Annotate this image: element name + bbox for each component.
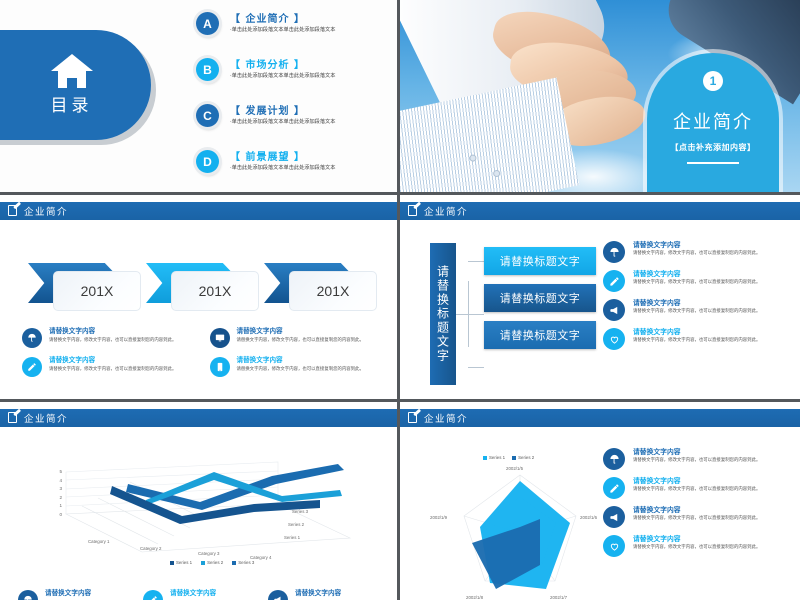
slide-line-chart[interactable]: 企业简介 bbox=[0, 402, 397, 600]
bullet-list: 请替换文字内容 请替换文字内容，修改文字内容，也可以直接复制您的内容到此。 请替… bbox=[603, 241, 791, 357]
chart-canvas: 012 345 Category 1 Category 2 Category 3… bbox=[50, 442, 370, 562]
legend-item: Series 1 bbox=[170, 560, 192, 565]
svg-text:2002/1/6: 2002/1/6 bbox=[580, 515, 598, 520]
svg-text:2002/1/8: 2002/1/8 bbox=[466, 595, 484, 600]
list-item[interactable]: 请替换文字内容 请替换文字内容，修改文字内容，也可以直接复制您的内容到此。 bbox=[603, 299, 791, 321]
list-item-sub: 请替换文字内容，修改文字内容，也可以直接复制您的内容到此。 bbox=[633, 545, 760, 551]
list-item[interactable]: 请替换文字内容 请替换文字内容，修改文字内容，也可以直接复制您的内容到此。 bbox=[603, 328, 791, 350]
list-item[interactable]: 请替换文字内容 请替换文字内容，修改文字内容，也可以直接复制您的内容到此。 bbox=[210, 327, 384, 348]
slide-header-title: 企业简介 bbox=[424, 411, 468, 425]
umbrella-icon bbox=[18, 590, 38, 600]
edit-document-icon bbox=[408, 412, 419, 424]
list-item-title: 请替换文字内容 bbox=[633, 299, 760, 307]
timeline-step[interactable]: 201X bbox=[28, 263, 146, 311]
list-item[interactable]: 请替换文字内容 bbox=[18, 589, 133, 600]
toc-item-sub: ·单击此处添加段落文本单击此处添加段落文本 bbox=[230, 73, 335, 80]
legend-item: Series 2 bbox=[201, 560, 223, 565]
svg-text:0: 0 bbox=[59, 512, 62, 517]
list-item[interactable]: 请替换文字内容 bbox=[143, 589, 258, 600]
heart-icon bbox=[603, 328, 625, 350]
slide-section-cover[interactable]: 1 企业简介 【点击补充添加内容】 bbox=[400, 0, 800, 192]
umbrella-icon bbox=[603, 448, 625, 470]
list-item-sub: 请替换文字内容，修改文字内容，也可以直接复制您的内容到此。 bbox=[633, 280, 760, 286]
toc-item-sub: ·单击此处添加段落文本单击此处添加段落文本 bbox=[230, 165, 335, 172]
pencil-icon bbox=[22, 357, 42, 377]
toc-item-sub: ·单击此处添加段落文本单击此处添加段落文本 bbox=[230, 27, 335, 34]
list-item-title: 请替换文字内容 bbox=[633, 270, 760, 278]
svg-text:1: 1 bbox=[59, 503, 62, 508]
list-item-sub: 请替换文字内容，修改文字内容，也可以直接复制您的内容到此。 bbox=[49, 338, 176, 344]
toc-badge-a: A bbox=[196, 12, 219, 35]
list-item-sub: 请替换文字内容，修改文字内容，也可以直接复制您的内容到此。 bbox=[633, 338, 760, 344]
list-item-title: 请替换文字内容 bbox=[295, 589, 341, 598]
timeline-year: 201X bbox=[171, 271, 259, 311]
timeline-detail-list: 请替换文字内容 请替换文字内容，修改文字内容，也可以直接复制您的内容到此。 请替… bbox=[22, 327, 383, 377]
slide-table-of-contents[interactable]: 目录 A 【 企业简介 】 ·单击此处添加段落文本单击此处添加段落文本 B 【 … bbox=[0, 0, 397, 192]
timeline-year: 201X bbox=[289, 271, 377, 311]
legend-item: Series 1 bbox=[483, 455, 505, 460]
tree-button-list: 请替换标题文字 请替换标题文字 请替换标题文字 bbox=[484, 247, 596, 358]
chart-caption-list: 请替换文字内容 请替换文字内容 请替换文字内容 bbox=[18, 589, 383, 600]
svg-text:Series 2: Series 2 bbox=[288, 522, 305, 527]
toc-item-sub: ·单击此处添加段落文本单击此处添加段落文本 bbox=[230, 119, 335, 126]
list-item[interactable]: 请替换文字内容 请替换文字内容，修改文字内容，也可以直接复制您的内容到此。 bbox=[603, 241, 791, 263]
chart-canvas: 2002/1/5 2002/1/6 2002/1/7 2002/1/8 2002… bbox=[428, 457, 613, 600]
svg-text:4: 4 bbox=[59, 478, 62, 483]
slide-header-title: 企业简介 bbox=[24, 204, 68, 218]
list-item-sub: 请替换文字内容，修改文字内容，也可以直接复制您的内容到此。 bbox=[237, 367, 364, 373]
list-item[interactable]: 请替换文字内容 请替换文字内容，修改文字内容，也可以直接复制您的内容到此。 bbox=[22, 327, 196, 348]
svg-text:2002/1/9: 2002/1/9 bbox=[430, 515, 448, 520]
list-item-title: 请替换文字内容 bbox=[633, 328, 760, 336]
toc-item-c[interactable]: C 【 发展计划 】 ·单击此处添加段落文本单击此处添加段落文本 bbox=[196, 102, 391, 136]
timeline-chevrons: 201X 201X 201X bbox=[28, 263, 382, 311]
edit-document-icon bbox=[408, 205, 419, 217]
section-subtitle: 【点击补充添加内容】 bbox=[671, 142, 756, 153]
list-item-sub: 请替换文字内容，修改文字内容，也可以直接复制您的内容到此。 bbox=[49, 367, 176, 373]
umbrella-icon bbox=[603, 241, 625, 263]
tree-button[interactable]: 请替换标题文字 bbox=[484, 247, 596, 275]
slide-header-title: 企业简介 bbox=[424, 204, 468, 218]
list-item-title: 请替换文字内容 bbox=[237, 356, 364, 365]
list-item-title: 请替换文字内容 bbox=[633, 477, 760, 485]
list-item[interactable]: 请替换文字内容 请替换文字内容，修改文字内容，也可以直接复制您的内容到此。 bbox=[603, 477, 791, 499]
pencil-icon bbox=[603, 477, 625, 499]
list-item-title: 请替换文字内容 bbox=[633, 506, 760, 514]
legend-item: Series 3 bbox=[232, 560, 254, 565]
toc-item-title: 【 企业简介 】 bbox=[230, 10, 335, 25]
toc-title-pill: 目录 bbox=[0, 30, 151, 140]
svg-text:Category 1: Category 1 bbox=[88, 539, 110, 544]
timeline-step[interactable]: 201X bbox=[264, 263, 382, 311]
heart-icon bbox=[603, 535, 625, 557]
tree-button[interactable]: 请替换标题文字 bbox=[484, 284, 596, 312]
svg-text:Category 2: Category 2 bbox=[140, 546, 162, 551]
bullet-list: 请替换文字内容 请替换文字内容，修改文字内容，也可以直接复制您的内容到此。 请替… bbox=[603, 448, 791, 564]
chart-legend: Series 1 Series 2 bbox=[483, 455, 534, 460]
slide-header-bar: 企业简介 bbox=[400, 409, 800, 427]
list-item-sub: 请替换文字内容，修改文字内容，也可以直接复制您的内容到此。 bbox=[633, 309, 760, 315]
toc-item-title: 【 发展计划 】 bbox=[230, 102, 335, 117]
list-item[interactable]: 请替换文字内容 请替换文字内容，修改文字内容，也可以直接复制您的内容到此。 bbox=[22, 356, 196, 377]
pencil-icon bbox=[603, 270, 625, 292]
svg-text:2: 2 bbox=[59, 495, 62, 500]
chart-legend: Series 1 Series 2 Series 3 bbox=[170, 560, 254, 565]
list-item[interactable]: 请替换文字内容 请替换文字内容，修改文字内容，也可以直接复制您的内容到此。 bbox=[210, 356, 384, 377]
vertical-title-label: 请替换标题文字 bbox=[435, 265, 452, 363]
timeline-step[interactable]: 201X bbox=[146, 263, 264, 311]
chart-3d-line: 012 345 Category 1 Category 2 Category 3… bbox=[50, 442, 370, 562]
tree-connector bbox=[456, 243, 484, 385]
toc-item-title: 【 前景展望 】 bbox=[230, 148, 335, 163]
toc-pill-label: 目录 bbox=[51, 91, 93, 116]
chart-radar: Series 1 Series 2 2002/1/5 2002/1/6 2002… bbox=[428, 457, 613, 600]
home-icon bbox=[51, 54, 93, 88]
list-item-title: 请替换文字内容 bbox=[633, 535, 760, 543]
svg-text:2002/1/5: 2002/1/5 bbox=[506, 466, 524, 471]
slide-header-title: 企业简介 bbox=[24, 411, 68, 425]
slide-structure-tree[interactable]: 企业简介 请替换标题文字 请替换标题文字 请替换标题文字 请替换标题文字 请替换… bbox=[400, 195, 800, 399]
slide-header-bar: 企业简介 bbox=[0, 409, 397, 427]
list-item-title: 请替换文字内容 bbox=[49, 356, 176, 365]
slide-timeline[interactable]: 企业简介 201X 201X 201X 请替换文字内容 bbox=[0, 195, 397, 399]
svg-text:Series 1: Series 1 bbox=[284, 535, 301, 540]
toc-item-b[interactable]: B 【 市场分析 】 ·单击此处添加段落文本单击此处添加段落文本 bbox=[196, 56, 391, 90]
slide-header-bar: 企业简介 bbox=[0, 202, 397, 220]
list-item-title: 请替换文字内容 bbox=[49, 327, 176, 336]
svg-text:Series 3: Series 3 bbox=[292, 509, 309, 514]
megaphone-icon bbox=[603, 506, 625, 528]
list-item-title: 请替换文字内容 bbox=[633, 448, 760, 456]
legend-item: Series 2 bbox=[512, 455, 534, 460]
list-item-sub: 请替换文字内容，修改文字内容，也可以直接复制您的内容到此。 bbox=[633, 458, 760, 464]
toc-item-a[interactable]: A 【 企业简介 】 ·单击此处添加段落文本单击此处添加段落文本 bbox=[196, 10, 391, 44]
list-item[interactable]: 请替换文字内容 bbox=[268, 589, 383, 600]
list-item-sub: 请替换文字内容，修改文字内容，也可以直接复制您的内容到此。 bbox=[633, 487, 760, 493]
toc-item-list: A 【 企业简介 】 ·单击此处添加段落文本单击此处添加段落文本 B 【 市场分… bbox=[196, 10, 391, 192]
monitor-icon bbox=[210, 328, 230, 348]
section-number: 1 bbox=[703, 71, 723, 91]
list-item-sub: 请替换文字内容，修改文字内容，也可以直接复制您的内容到此。 bbox=[237, 338, 364, 344]
list-item[interactable]: 请替换文字内容 请替换文字内容，修改文字内容，也可以直接复制您的内容到此。 bbox=[603, 270, 791, 292]
slide-thumbnail-grid: 目录 A 【 企业简介 】 ·单击此处添加段落文本单击此处添加段落文本 B 【 … bbox=[0, 0, 800, 600]
timeline-year: 201X bbox=[53, 271, 141, 311]
list-item-sub: 请替换文字内容，修改文字内容，也可以直接复制您的内容到此。 bbox=[633, 251, 760, 257]
list-item[interactable]: 请替换文字内容 请替换文字内容，修改文字内容，也可以直接复制您的内容到此。 bbox=[603, 448, 791, 470]
toc-item-title: 【 市场分析 】 bbox=[230, 56, 335, 71]
megaphone-icon bbox=[603, 299, 625, 321]
toc-badge-d: D bbox=[196, 150, 219, 173]
toc-badge-b: B bbox=[196, 58, 219, 81]
edit-document-icon bbox=[8, 205, 19, 217]
edit-document-icon bbox=[8, 412, 19, 424]
svg-text:2002/1/7: 2002/1/7 bbox=[550, 595, 568, 600]
section-title: 企业简介 bbox=[673, 108, 753, 134]
svg-text:3: 3 bbox=[59, 486, 62, 491]
list-item-title: 请替换文字内容 bbox=[45, 589, 91, 598]
list-item[interactable]: 请替换文字内容 请替换文字内容，修改文字内容，也可以直接复制您的内容到此。 bbox=[603, 535, 791, 557]
toc-badge-c: C bbox=[196, 104, 219, 127]
tree-button[interactable]: 请替换标题文字 bbox=[484, 321, 596, 349]
list-item-title: 请替换文字内容 bbox=[237, 327, 364, 336]
vertical-title-bar: 请替换标题文字 bbox=[430, 243, 456, 385]
list-item-title: 请替换文字内容 bbox=[170, 589, 216, 598]
toc-item-d[interactable]: D 【 前景展望 】 ·单击此处添加段落文本单击此处添加段落文本 bbox=[196, 148, 391, 182]
slide-header-bar: 企业简介 bbox=[400, 202, 800, 220]
pencil-icon bbox=[143, 590, 163, 600]
section-divider bbox=[687, 162, 739, 164]
slide-radar-chart[interactable]: 企业简介 Series 1 Series 2 2002/1/5 2002/1/6 bbox=[400, 402, 800, 600]
svg-text:Category 3: Category 3 bbox=[198, 551, 220, 556]
umbrella-icon bbox=[22, 328, 42, 348]
list-item-sub: 请替换文字内容，修改文字内容，也可以直接复制您的内容到此。 bbox=[633, 516, 760, 522]
svg-text:5: 5 bbox=[59, 469, 62, 474]
list-item-title: 请替换文字内容 bbox=[633, 241, 760, 249]
phone-icon bbox=[210, 357, 230, 377]
list-item[interactable]: 请替换文字内容 请替换文字内容，修改文字内容，也可以直接复制您的内容到此。 bbox=[603, 506, 791, 528]
megaphone-icon bbox=[268, 590, 288, 600]
section-title-arch: 1 企业简介 【点击补充添加内容】 bbox=[647, 53, 779, 192]
